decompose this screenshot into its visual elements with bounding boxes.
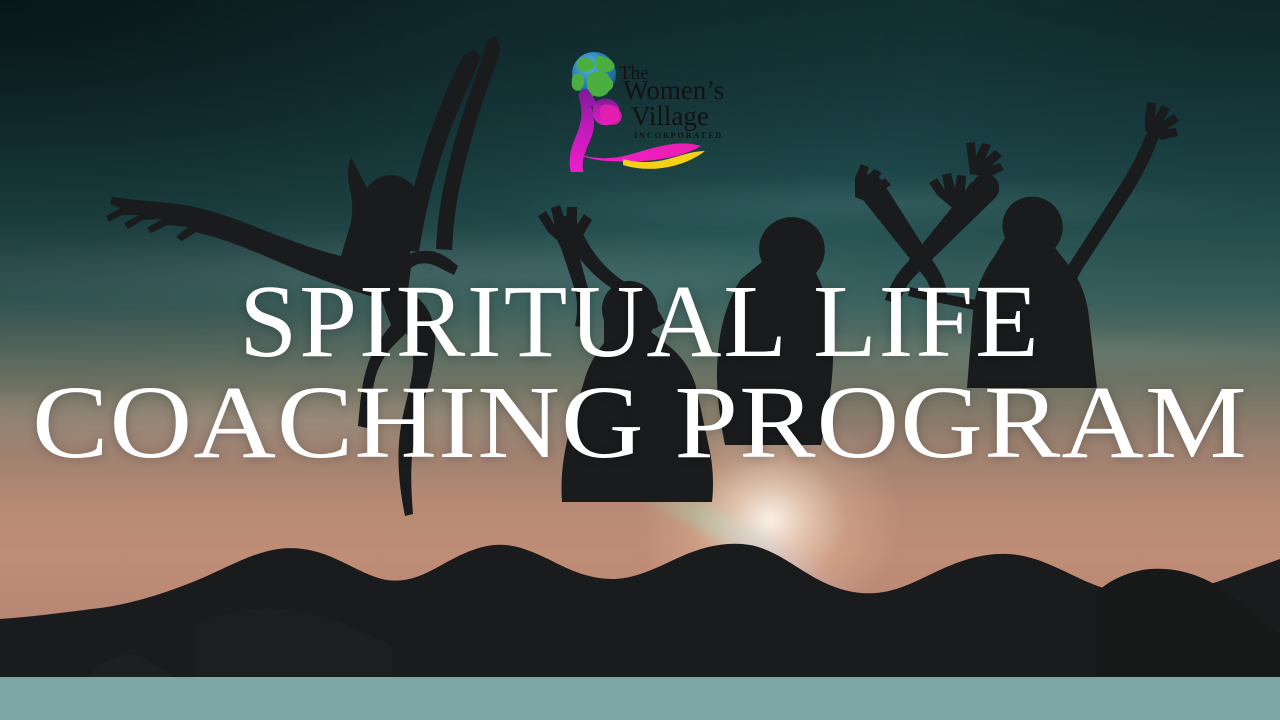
title-slide: The Women’s Village INCORPORATED SPIRITU… bbox=[0, 0, 1280, 720]
organization-logo[interactable]: The Women’s Village INCORPORATED bbox=[563, 47, 723, 172]
title-line-2: COACHING PROGRAM bbox=[0, 373, 1280, 474]
slide-title: SPIRITUAL LIFE COACHING PROGRAM bbox=[0, 272, 1280, 474]
foreground-rocks-silhouette bbox=[0, 467, 1280, 677]
logo-text-village: Village bbox=[631, 103, 709, 130]
logo-text-womens: Women’s bbox=[623, 77, 724, 104]
title-line-1: SPIRITUAL LIFE bbox=[0, 272, 1280, 373]
tree-silhouette bbox=[86, 652, 176, 677]
logo-text-incorporated: INCORPORATED bbox=[634, 132, 723, 140]
globe-icon bbox=[572, 52, 616, 100]
bottom-accent-bar bbox=[0, 677, 1280, 720]
